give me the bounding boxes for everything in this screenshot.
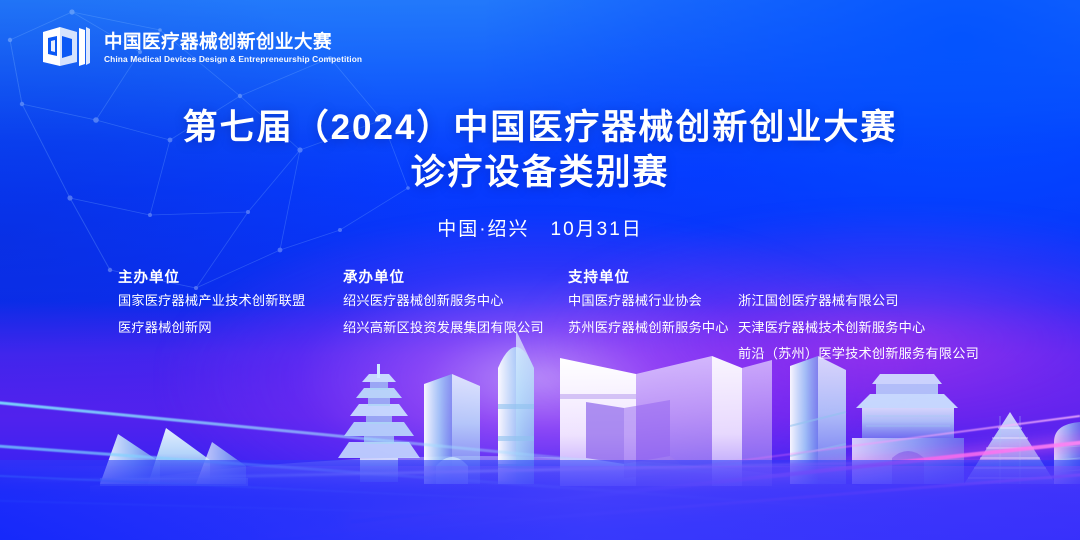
- sponsor-item: 中国医疗器械行业协会: [568, 293, 738, 310]
- sponsor-item: 浙江国创医疗器械有限公司: [738, 293, 998, 310]
- sponsor-section: 主办单位 国家医疗器械产业技术创新联盟 医疗器械创新网 承办单位 绍兴医疗器械创…: [118, 266, 998, 373]
- sponsor-item: 绍兴高新区投资发展集团有限公司: [343, 320, 568, 337]
- sponsor-item: 绍兴医疗器械创新服务中心: [343, 293, 568, 310]
- sponsor-item: 苏州医疗器械创新服务中心: [568, 320, 738, 337]
- page-title-line2: 诊疗设备类别赛: [0, 151, 1080, 196]
- page-title-line1: 第七届（2024）中国医疗器械创新创业大赛: [0, 106, 1080, 151]
- brand-logo: 中国医疗器械创新创业大赛 China Medical Devices Desig…: [40, 22, 362, 70]
- sponsor-item: 国家医疗器械产业技术创新联盟: [118, 293, 343, 310]
- brand-name-cn: 中国医疗器械创新创业大赛: [104, 32, 362, 52]
- sponsor-heading: 支持单位: [568, 266, 738, 283]
- title-block: 第七届（2024）中国医疗器械创新创业大赛 诊疗设备类别赛 中国·绍兴 10月3…: [0, 106, 1080, 241]
- sponsor-item: 前沿（苏州）医学技术创新服务有限公司: [738, 346, 998, 363]
- sponsor-column-host: 承办单位 绍兴医疗器械创新服务中心 绍兴高新区投资发展集团有限公司: [343, 266, 568, 346]
- sponsor-heading: 承办单位: [343, 266, 568, 283]
- sponsor-item: 天津医疗器械技术创新服务中心: [738, 320, 998, 337]
- brand-logo-text: 中国医疗器械创新创业大赛 China Medical Devices Desig…: [104, 28, 362, 64]
- sponsor-column-supporter-overflow: 浙江国创医疗器械有限公司 天津医疗器械技术创新服务中心 前沿（苏州）医学技术创新…: [738, 266, 998, 373]
- event-banner: 中国医疗器械创新创业大赛 China Medical Devices Desig…: [0, 0, 1080, 540]
- sponsor-column-supporter: 支持单位 中国医疗器械行业协会 苏州医疗器械创新服务中心: [568, 266, 738, 346]
- sponsor-heading: 主办单位: [118, 266, 343, 283]
- event-location-date: 中国·绍兴 10月31日: [0, 214, 1080, 241]
- brand-name-en: China Medical Devices Design & Entrepren…: [104, 55, 362, 64]
- foreground-floor-sheen: [0, 466, 1080, 540]
- sponsor-column-organizer: 主办单位 国家医疗器械产业技术创新联盟 医疗器械创新网: [118, 266, 343, 346]
- sponsor-item: 医疗器械创新网: [118, 320, 343, 337]
- cmdc-open-book-logo-icon: [40, 22, 92, 70]
